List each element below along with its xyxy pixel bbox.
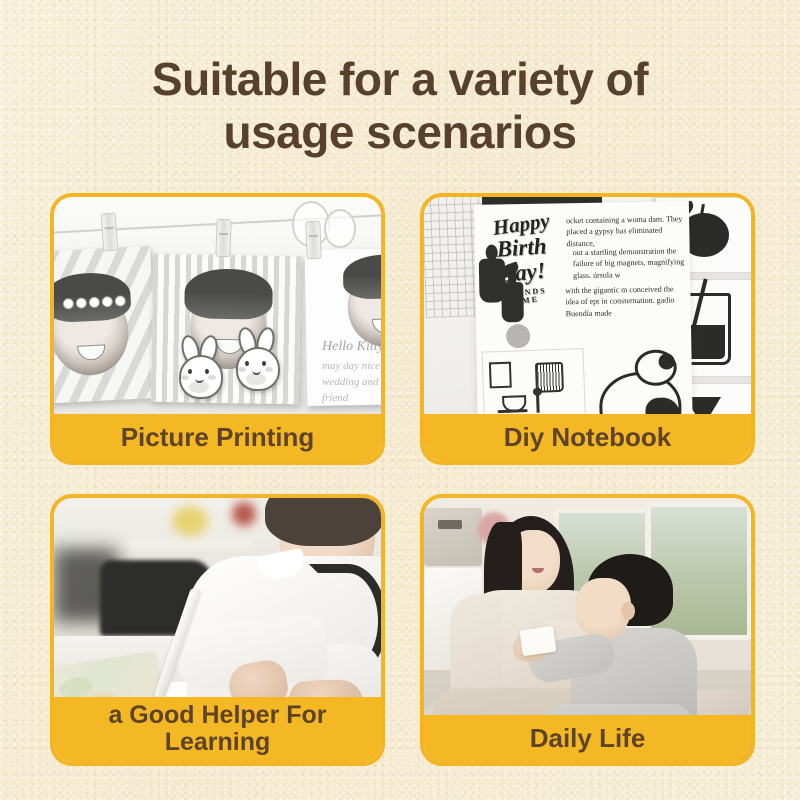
hello-kitty-title: Hello Kitty <box>322 337 381 357</box>
bunny-sticker-2 <box>229 327 283 389</box>
page-title-line2: usage scenarios <box>60 106 740 159</box>
child-hair-middle <box>184 268 273 320</box>
hello-kitty-lines: may day nice wedding and new friend <box>322 360 381 404</box>
clothes-clip-1 <box>101 213 119 252</box>
scenario-card-picture-printing[interactable]: Hello Kitty may day nice wedding and new… <box>50 193 385 465</box>
scenario-card-diy-notebook[interactable]: Happy Birth Day! FRIENDS NAME ocket cont… <box>420 193 755 465</box>
gray-circle-sticker <box>506 324 530 348</box>
scenario-card-grid: Hello Kitty may day nice wedding and new… <box>50 193 755 766</box>
pasted-text-block-1: ocket containing a woma dam. They placed… <box>566 213 687 249</box>
page-title-line1: Suitable for a variety of <box>152 53 648 105</box>
spoon-icon <box>536 393 540 413</box>
card-label-diy-notebook: Diy Notebook <box>424 414 751 461</box>
card-label-picture-printing: Picture Printing <box>54 414 381 461</box>
clothes-clip-2 <box>215 219 231 258</box>
saucer-icon <box>498 409 528 413</box>
pasted-text-block-2: out a startling demonstration the failur… <box>573 245 694 281</box>
child-hair-right <box>343 254 381 299</box>
paper-being-shared <box>519 626 556 656</box>
scenario-card-good-helper-for-learning[interactable]: a Good Helper For Learning <box>50 494 385 766</box>
pasted-text-block-3: with the gigantic m conceived the idea o… <box>565 283 676 319</box>
bottle-silhouette <box>501 282 524 322</box>
card-label-line2: Learning <box>165 728 271 756</box>
card-label-good-helper-for-learning: a Good Helper For Learning <box>54 697 381 762</box>
photo-print-left <box>54 246 158 404</box>
card-label-daily-life: Daily Life <box>424 715 751 762</box>
clipboard-icon <box>489 362 512 389</box>
child-hair <box>265 498 381 546</box>
clothes-clip-3 <box>305 221 321 260</box>
page-title: Suitable for a variety of usage scenario… <box>0 53 800 160</box>
child-ear <box>621 602 635 620</box>
bunny-sticker-1 <box>172 335 226 397</box>
hello-kitty-caption: Hello Kitty may day nice wedding and new… <box>322 337 381 407</box>
scenario-card-daily-life[interactable]: Daily Life <box>420 494 755 766</box>
balloon-doodle-2 <box>324 209 356 248</box>
card-label-line1: a Good Helper For <box>108 701 326 729</box>
child-figure <box>181 498 381 730</box>
